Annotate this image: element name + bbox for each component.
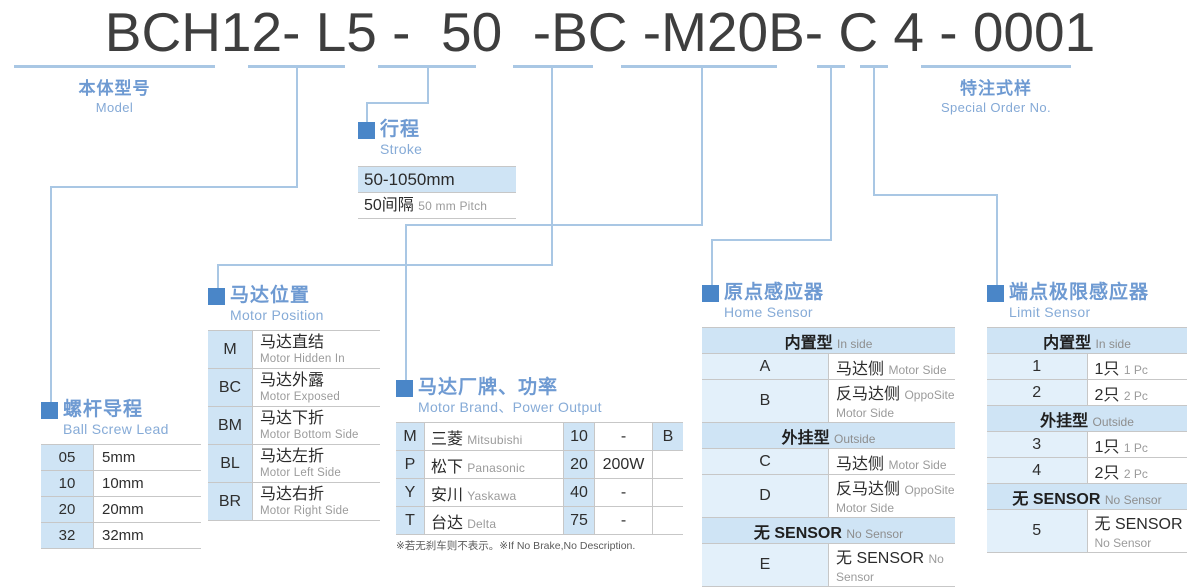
- section-stroke-title-en: Stroke: [380, 140, 516, 158]
- motor-brand-rows: M三菱 Mitsubishi10-BP松下 Panasonic20200W Y安…: [396, 423, 683, 535]
- table-row: 内置型 In side: [987, 328, 1187, 354]
- section-stroke: 行程 Stroke 50-1050mm 50间隔 50 mm Pitch: [358, 118, 516, 219]
- section-motorbrand-title-en: Motor Brand、Power Output: [418, 398, 683, 416]
- motor-brand-name-cn: 三菱: [431, 431, 463, 448]
- limit-sensor-desc-en: 2 Pc: [1124, 389, 1148, 403]
- motor-power-value-cell: -: [595, 507, 653, 535]
- motor-position-rows: M马达直结Motor Hidden InBC马达外露Motor ExposedB…: [208, 331, 380, 521]
- section-lead-title-cn: 螺杆导程: [63, 398, 143, 421]
- section-limit-sensor: 端点极限感应器 Limit Sensor 内置型 In side11只 1 Pc…: [987, 281, 1187, 553]
- lead-code-cell: 32: [41, 523, 94, 549]
- motor-brand-name-en: Delta: [467, 517, 496, 531]
- lead-value-cell: 10mm: [94, 471, 202, 497]
- motor-power-code-cell: 75: [564, 507, 595, 535]
- limit-sensor-group-cell: 外挂型 Outside: [987, 406, 1187, 432]
- bullet-square-icon: [358, 122, 375, 139]
- home-sensor-code-cell: D: [702, 475, 829, 518]
- table-row: Y安川 Yaskawa40-: [396, 479, 683, 507]
- motor-power-code-cell: 40: [564, 479, 595, 507]
- lead-code-cell: 10: [41, 471, 94, 497]
- motor-power-code-cell: 10: [564, 423, 595, 451]
- motor-brand-note: ※若无刹车则不表示。※If No Brake,No Description.: [396, 538, 683, 553]
- stroke-pitch-en: 50 mm Pitch: [418, 199, 487, 213]
- table-row: 2020mm: [41, 497, 201, 523]
- section-motorpos-title-cn: 马达位置: [230, 284, 310, 307]
- section-stroke-title-cn: 行程: [380, 118, 420, 141]
- motor-position-desc-cell: 马达下折Motor Bottom Side: [253, 407, 381, 445]
- lead-value-cell: 5mm: [94, 445, 202, 471]
- table-row: D反马达侧 OppoSite Motor Side: [702, 475, 955, 518]
- motor-position-desc-cn: 马达外露: [260, 372, 380, 390]
- table-row: 外挂型 Outside: [702, 423, 955, 449]
- bullet-square-icon: [987, 285, 1004, 302]
- motor-position-code-cell: BC: [208, 369, 253, 407]
- motor-brake-cell: B: [653, 423, 684, 451]
- motor-position-desc-cell: 马达外露Motor Exposed: [253, 369, 381, 407]
- section-lead-title-en: Ball Screw Lead: [63, 420, 201, 438]
- bullet-square-icon: [702, 285, 719, 302]
- stroke-table: 50-1050mm 50间隔 50 mm Pitch: [358, 166, 516, 219]
- motor-power-value-cell: 200W: [595, 451, 653, 479]
- ball-screw-lead-rows: 055mm1010mm2020mm3232mm: [41, 445, 201, 549]
- section-motor-brand: 马达厂牌、功率 Motor Brand、Power Output M三菱 Mit…: [396, 376, 683, 553]
- motor-brand-code-cell: Y: [396, 479, 425, 507]
- bullet-square-icon: [208, 288, 225, 305]
- motor-brand-name-cell: 安川 Yaskawa: [425, 479, 564, 507]
- home-sensor-group-en: In side: [837, 337, 872, 351]
- section-limitsensor-title-en: Limit Sensor: [1009, 303, 1187, 321]
- motor-brake-cell: [653, 451, 684, 479]
- home-sensor-group-cn: 外挂型: [782, 430, 830, 447]
- motor-brand-table: M三菱 Mitsubishi10-BP松下 Panasonic20200W Y安…: [396, 422, 683, 535]
- limit-sensor-desc-cn: 2只: [1095, 465, 1120, 482]
- bullet-square-icon: [396, 380, 413, 397]
- home-sensor-desc-cell: 反马达侧 OppoSite Motor Side: [829, 380, 956, 423]
- home-sensor-code-cell: E: [702, 544, 829, 587]
- lead-code-cell: 05: [41, 445, 94, 471]
- limit-sensor-code-cell: 2: [987, 380, 1087, 406]
- home-sensor-desc-cn: 反马达侧: [836, 386, 900, 403]
- home-sensor-desc-en: Motor Side: [888, 458, 946, 472]
- motor-brand-name-cn: 松下: [431, 459, 463, 476]
- ball-screw-lead-table: 055mm1010mm2020mm3232mm: [41, 444, 201, 549]
- table-row: BR马达右折Motor Right Side: [208, 483, 380, 521]
- home-sensor-group-cn: 内置型: [785, 335, 833, 352]
- motor-position-code-cell: BR: [208, 483, 253, 521]
- home-sensor-code-cell: B: [702, 380, 829, 423]
- section-homesensor-title-cn: 原点感应器: [724, 281, 824, 304]
- table-row: M马达直结Motor Hidden In: [208, 331, 380, 369]
- motor-position-code-cell: BL: [208, 445, 253, 483]
- section-motorbrand-title-cn: 马达厂牌、功率: [418, 376, 558, 399]
- motor-position-desc-cell: 马达直结Motor Hidden In: [253, 331, 381, 369]
- limit-sensor-code-cell: 5: [987, 510, 1087, 553]
- motor-position-desc-cell: 马达左折Motor Left Side: [253, 445, 381, 483]
- home-sensor-desc-cn: 马达侧: [836, 456, 884, 473]
- table-row: C马达侧 Motor Side: [702, 449, 955, 475]
- motor-power-value-cell: -: [595, 423, 653, 451]
- limit-sensor-rows: 内置型 In side11只 1 Pc22只 2 Pc外挂型 Outside31…: [987, 328, 1187, 553]
- motor-brand-code-cell: P: [396, 451, 425, 479]
- limit-sensor-group-en: No Sensor: [1105, 493, 1162, 507]
- limit-sensor-code-cell: 1: [987, 354, 1087, 380]
- limit-sensor-desc-en: No Sensor: [1095, 536, 1152, 550]
- table-row: 3232mm: [41, 523, 201, 549]
- table-row: BM马达下折Motor Bottom Side: [208, 407, 380, 445]
- motor-brand-code-cell: M: [396, 423, 425, 451]
- table-row: 5无 SENSOR No Sensor: [987, 510, 1187, 553]
- motor-brand-name-en: Yaskawa: [467, 489, 516, 503]
- motor-brake-cell: [653, 507, 684, 535]
- motor-position-desc-en: Motor Right Side: [260, 504, 380, 518]
- table-row: E无 SENSOR No Sensor: [702, 544, 955, 587]
- home-sensor-desc-cell: 反马达侧 OppoSite Motor Side: [829, 475, 956, 518]
- limit-sensor-desc-cell: 1只 1 Pc: [1087, 354, 1187, 380]
- limit-sensor-code-cell: 3: [987, 432, 1087, 458]
- table-row: P松下 Panasonic20200W: [396, 451, 683, 479]
- table-row: 055mm: [41, 445, 201, 471]
- limit-sensor-desc-en: 1 Pc: [1124, 363, 1148, 377]
- limit-sensor-desc-cn: 无 SENSOR: [1095, 516, 1183, 533]
- home-sensor-code-cell: A: [702, 354, 829, 380]
- table-row: 42只 2 Pc: [987, 458, 1187, 484]
- limit-sensor-desc-cn: 1只: [1095, 361, 1120, 378]
- table-row: BC马达外露Motor Exposed: [208, 369, 380, 407]
- table-row: T台达 Delta75-: [396, 507, 683, 535]
- table-row: 内置型 In side: [702, 328, 955, 354]
- motor-position-desc-en: Motor Hidden In: [260, 352, 380, 366]
- limit-sensor-desc-cell: 2只 2 Pc: [1087, 380, 1187, 406]
- table-row: 外挂型 Outside: [987, 406, 1187, 432]
- limit-sensor-group-cn: 外挂型: [1040, 413, 1088, 430]
- motor-brand-name-en: Panasonic: [467, 461, 525, 475]
- motor-position-desc-cell: 马达右折Motor Right Side: [253, 483, 381, 521]
- limit-sensor-group-cell: 无 SENSOR No Sensor: [987, 484, 1187, 510]
- motor-brand-name-cn: 安川: [431, 487, 463, 504]
- limit-sensor-desc-cn: 2只: [1095, 387, 1120, 404]
- motor-position-code-cell: BM: [208, 407, 253, 445]
- limit-sensor-desc-cell: 1只 1 Pc: [1087, 432, 1187, 458]
- motor-power-value-cell: -: [595, 479, 653, 507]
- stroke-pitch-cn: 50间隔: [364, 197, 414, 214]
- motor-brand-code-cell: T: [396, 507, 425, 535]
- home-sensor-group-en: Outside: [834, 432, 875, 446]
- home-sensor-group-cn: 无 SENSOR: [754, 525, 842, 542]
- stroke-pitch: 50间隔 50 mm Pitch: [358, 193, 516, 219]
- home-sensor-desc-cn: 无 SENSOR: [836, 550, 924, 567]
- limit-sensor-group-cn: 无 SENSOR: [1012, 491, 1100, 508]
- table-row: BL马达左折Motor Left Side: [208, 445, 380, 483]
- section-limitsensor-title-cn: 端点极限感应器: [1009, 281, 1149, 304]
- motor-position-desc-cn: 马达左折: [260, 448, 380, 466]
- limit-sensor-desc-cn: 1只: [1095, 439, 1120, 456]
- limit-sensor-desc-cell: 2只 2 Pc: [1087, 458, 1187, 484]
- motor-power-code-cell: 20: [564, 451, 595, 479]
- table-row: 无 SENSOR No Sensor: [987, 484, 1187, 510]
- motor-position-desc-cn: 马达直结: [260, 334, 380, 352]
- limit-sensor-group-en: In side: [1096, 337, 1131, 351]
- limit-sensor-table: 内置型 In side11只 1 Pc22只 2 Pc外挂型 Outside31…: [987, 327, 1187, 553]
- motor-brand-name-cn: 台达: [431, 515, 463, 532]
- lead-code-cell: 20: [41, 497, 94, 523]
- limit-sensor-group-cn: 内置型: [1043, 335, 1091, 352]
- motor-position-code-cell: M: [208, 331, 253, 369]
- home-sensor-table: 内置型 In sideA马达侧 Motor SideB反马达侧 OppoSite…: [702, 327, 955, 587]
- table-row: 1010mm: [41, 471, 201, 497]
- motor-brand-name-en: Mitsubishi: [467, 433, 522, 447]
- home-sensor-desc-cell: 马达侧 Motor Side: [829, 449, 956, 475]
- motor-position-desc-en: Motor Exposed: [260, 390, 380, 404]
- motor-brake-cell: [653, 479, 684, 507]
- table-row: B反马达侧 OppoSite Motor Side: [702, 380, 955, 423]
- motor-brand-name-cell: 三菱 Mitsubishi: [425, 423, 564, 451]
- stroke-range: 50-1050mm: [358, 166, 516, 193]
- table-row: M三菱 Mitsubishi10-B: [396, 423, 683, 451]
- limit-sensor-desc-en: 1 Pc: [1124, 441, 1148, 455]
- motor-position-desc-en: Motor Bottom Side: [260, 428, 380, 442]
- section-ball-screw-lead: 螺杆导程 Ball Screw Lead 055mm1010mm2020mm32…: [41, 398, 201, 549]
- motor-brand-name-cell: 台达 Delta: [425, 507, 564, 535]
- table-row: 31只 1 Pc: [987, 432, 1187, 458]
- limit-sensor-desc-cell: 无 SENSOR No Sensor: [1087, 510, 1187, 553]
- motor-position-desc-cn: 马达右折: [260, 486, 380, 504]
- motor-position-table: M马达直结Motor Hidden InBC马达外露Motor ExposedB…: [208, 330, 380, 521]
- lead-value-cell: 20mm: [94, 497, 202, 523]
- home-sensor-group-en: No Sensor: [846, 527, 903, 541]
- home-sensor-desc-en: Motor Side: [888, 363, 946, 377]
- home-sensor-desc-cell: 马达侧 Motor Side: [829, 354, 956, 380]
- table-row: 无 SENSOR No Sensor: [702, 518, 955, 544]
- motor-brand-name-cell: 松下 Panasonic: [425, 451, 564, 479]
- limit-sensor-group-en: Outside: [1093, 415, 1134, 429]
- table-row: 22只 2 Pc: [987, 380, 1187, 406]
- section-motor-position: 马达位置 Motor Position M马达直结Motor Hidden In…: [208, 284, 380, 521]
- bullet-square-icon: [41, 402, 58, 419]
- home-sensor-rows: 内置型 In sideA马达侧 Motor SideB反马达侧 OppoSite…: [702, 328, 955, 587]
- limit-sensor-group-cell: 内置型 In side: [987, 328, 1187, 354]
- home-sensor-desc-cn: 反马达侧: [836, 481, 900, 498]
- home-sensor-group-cell: 外挂型 Outside: [702, 423, 955, 449]
- table-row: 11只 1 Pc: [987, 354, 1187, 380]
- motor-position-desc-en: Motor Left Side: [260, 466, 380, 480]
- limit-sensor-desc-en: 2 Pc: [1124, 467, 1148, 481]
- section-homesensor-title-en: Home Sensor: [724, 303, 955, 321]
- home-sensor-group-cell: 无 SENSOR No Sensor: [702, 518, 955, 544]
- table-row: A马达侧 Motor Side: [702, 354, 955, 380]
- home-sensor-group-cell: 内置型 In side: [702, 328, 955, 354]
- lead-value-cell: 32mm: [94, 523, 202, 549]
- home-sensor-desc-cell: 无 SENSOR No Sensor: [829, 544, 956, 587]
- limit-sensor-code-cell: 4: [987, 458, 1087, 484]
- motor-position-desc-cn: 马达下折: [260, 410, 380, 428]
- home-sensor-code-cell: C: [702, 449, 829, 475]
- home-sensor-desc-cn: 马达侧: [836, 361, 884, 378]
- section-home-sensor: 原点感应器 Home Sensor 内置型 In sideA马达侧 Motor …: [702, 281, 955, 587]
- section-motorpos-title-en: Motor Position: [230, 306, 380, 324]
